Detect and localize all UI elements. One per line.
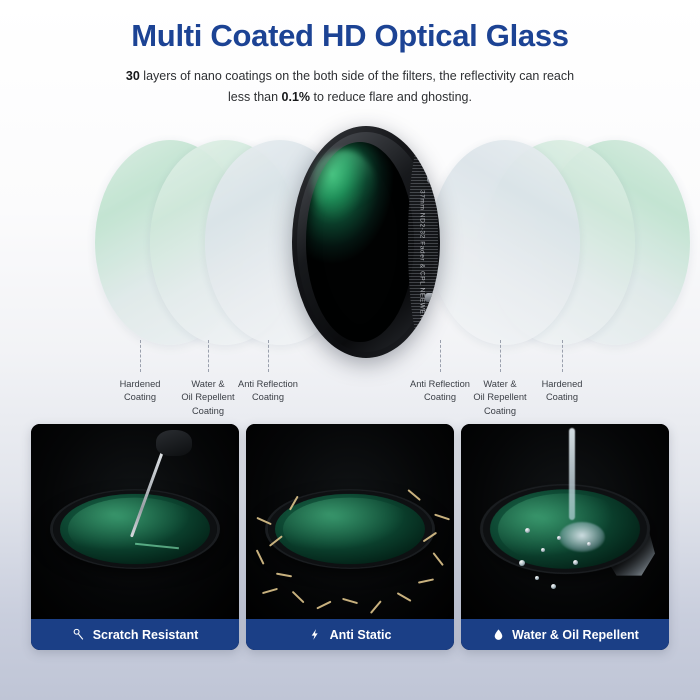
water-droplet: [519, 560, 525, 566]
coating-label-hardened-right: Hardened Coating: [516, 378, 608, 405]
feature-card-anti-static[interactable]: Anti Static: [246, 424, 454, 650]
water-droplet: [541, 548, 545, 552]
page-title: Multi Coated HD Optical Glass: [0, 0, 700, 54]
straw-debris: [407, 489, 421, 501]
leader-line-5: [500, 340, 501, 372]
photo-scratch-test: [31, 424, 239, 619]
water-droplet: [551, 584, 556, 589]
feature-label-scratch-resistant: Scratch Resistant: [93, 628, 199, 642]
water-droplet: [573, 560, 578, 565]
lightning-bolt-icon: [309, 628, 323, 642]
straw-debris: [262, 588, 278, 595]
leader-line-4: [440, 340, 441, 372]
straw-debris: [342, 598, 358, 605]
straw-debris: [255, 549, 264, 564]
water-droplet: [587, 542, 591, 546]
water-splash: [559, 522, 605, 552]
straw-debris: [396, 592, 411, 602]
photo-anti-static-test: [246, 424, 454, 619]
subtitle-reflectivity-value: 0.1%: [282, 90, 311, 104]
straw-debris: [434, 514, 450, 521]
feature-card-scratch-resistant[interactable]: Scratch Resistant: [31, 424, 239, 650]
subtitle-text-tail: to reduce flare and ghosting.: [310, 90, 472, 104]
header: Multi Coated HD Optical Glass 30 layers …: [0, 0, 700, 107]
leader-line-1: [140, 340, 141, 372]
straw-debris: [316, 601, 331, 610]
feature-card-water-oil-repellent[interactable]: Water & Oil Repellent: [461, 424, 669, 650]
camera-filter-product: 37mm ND2-32 Fader & CPL NEEWER: [292, 126, 440, 358]
water-droplet: [535, 576, 539, 580]
coating-label-anti-reflection-left: Anti Reflection Coating: [222, 378, 314, 405]
filter-green-coated-glass: [306, 142, 414, 342]
lens-coating-diagram: 37mm ND2-32 Fader & CPL NEEWER: [0, 118, 700, 368]
filter-rotation-tab-top: [427, 172, 440, 183]
leader-line-3: [268, 340, 269, 372]
straw-debris: [370, 600, 382, 614]
feature-bar-anti-static: Anti Static: [246, 619, 454, 650]
leader-line-2: [208, 340, 209, 372]
straw-debris: [432, 552, 444, 566]
water-stream: [569, 428, 575, 520]
straw-debris: [291, 591, 304, 604]
water-droplet: [525, 528, 530, 533]
straw-debris: [276, 573, 292, 578]
straw-debris: [418, 578, 434, 584]
water-droplet-icon: [491, 628, 505, 642]
feature-cards: Scratch Resistant: [0, 424, 700, 652]
feature-bar-water-oil-repellent: Water & Oil Repellent: [461, 619, 669, 650]
leader-lines: [0, 340, 700, 376]
page-subtitle: 30 layers of nano coatings on the both s…: [115, 54, 585, 107]
coating-labels: Hardened Coating Water & Oil Repellent C…: [0, 378, 700, 430]
scratch-needle-icon: [72, 628, 86, 642]
product-feature-page: Multi Coated HD Optical Glass 30 layers …: [0, 0, 700, 700]
coating-disc-4: [430, 140, 580, 345]
filter-rotation-tab-bottom: [425, 293, 438, 302]
needle-handle: [156, 430, 192, 456]
leader-line-6: [562, 340, 563, 372]
water-droplet: [557, 536, 561, 540]
feature-bar-scratch-resistant: Scratch Resistant: [31, 619, 239, 650]
subtitle-layer-count: 30: [126, 69, 140, 83]
photo-water-repellent-test: [461, 424, 669, 619]
feature-label-water-oil-repellent: Water & Oil Repellent: [512, 628, 639, 642]
feature-label-anti-static: Anti Static: [330, 628, 392, 642]
